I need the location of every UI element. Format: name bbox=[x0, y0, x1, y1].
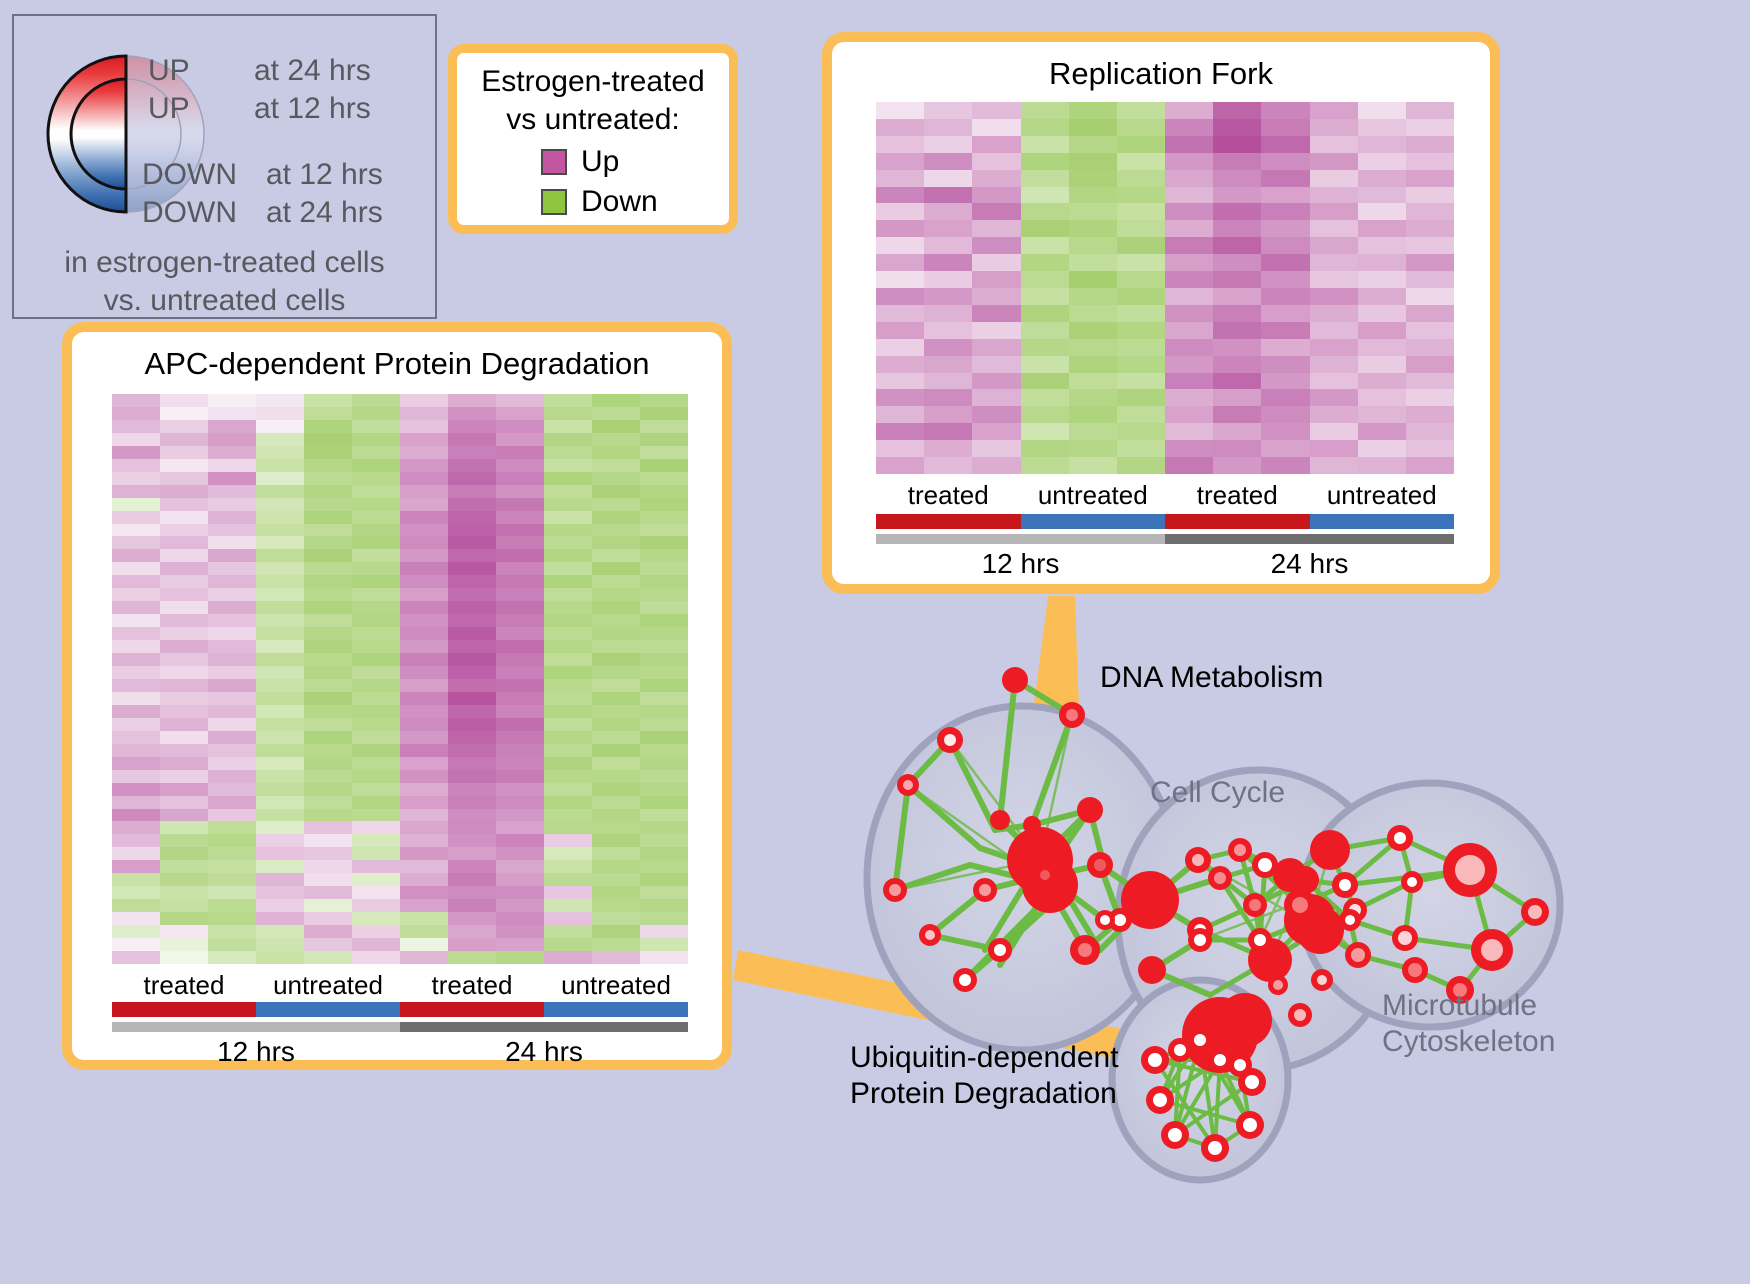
heatmap-cell bbox=[448, 536, 496, 549]
heatmap-cell bbox=[1165, 339, 1213, 356]
heatmap-cell bbox=[544, 549, 592, 562]
heatmap-cell bbox=[112, 601, 160, 614]
heatmap-cell bbox=[1213, 288, 1261, 305]
heatmap-cell bbox=[208, 938, 256, 951]
heatmap-cell bbox=[1406, 457, 1454, 474]
heatmap-cell bbox=[640, 899, 688, 912]
heatmap-cell bbox=[304, 536, 352, 549]
heatmap-cell bbox=[972, 440, 1020, 457]
heatmap-cell bbox=[640, 511, 688, 524]
heatmap-cell bbox=[1069, 305, 1117, 322]
heatmap-cell bbox=[1406, 440, 1454, 457]
sample-label: treated bbox=[112, 970, 256, 1001]
heatmap-cell bbox=[1021, 203, 1069, 220]
heatmap-cell bbox=[1069, 423, 1117, 440]
heatmap-cell bbox=[1261, 457, 1309, 474]
heatmap-cell bbox=[640, 498, 688, 511]
heatmap-cell bbox=[1406, 102, 1454, 119]
heatmap-cell bbox=[256, 692, 304, 705]
heatmap-cell bbox=[1358, 322, 1406, 339]
heatmap-cell bbox=[1165, 440, 1213, 457]
heatmap-cell bbox=[256, 446, 304, 459]
updown-legend-card: Estrogen-treated vs untreated: Up Down bbox=[448, 44, 738, 234]
heatmap-cell bbox=[256, 796, 304, 809]
heatmap-cell bbox=[496, 549, 544, 562]
heatmap-cell bbox=[256, 783, 304, 796]
heatmap-cell bbox=[400, 575, 448, 588]
heatmap-cell bbox=[592, 485, 640, 498]
heatmap-cell bbox=[112, 847, 160, 860]
heatmap-cell bbox=[592, 524, 640, 537]
heatmap-cell bbox=[1117, 322, 1165, 339]
sample-color-bar-replication bbox=[876, 514, 1454, 529]
heatmap-cell bbox=[400, 705, 448, 718]
heatmap-cell bbox=[1165, 170, 1213, 187]
heatmap-cell bbox=[304, 498, 352, 511]
heatmap-cell bbox=[1165, 220, 1213, 237]
heatmap-cell bbox=[1069, 373, 1117, 390]
heatmap-cell bbox=[496, 860, 544, 873]
heatmap-cell bbox=[160, 394, 208, 407]
heatmap-cell bbox=[352, 744, 400, 757]
heatmap-cell bbox=[1021, 457, 1069, 474]
heatmap-cell bbox=[1117, 119, 1165, 136]
heatmap-cell bbox=[1165, 288, 1213, 305]
legend-caption: in estrogen-treated cells vs. untreated … bbox=[14, 244, 435, 320]
heatmap-cell bbox=[304, 692, 352, 705]
heatmap-cell bbox=[544, 511, 592, 524]
heatmap-cell bbox=[400, 627, 448, 640]
heatmap-cell bbox=[640, 459, 688, 472]
heatmap-cell bbox=[640, 446, 688, 459]
heatmap-cell bbox=[544, 847, 592, 860]
legend-text-up-24: at 24 hrs bbox=[254, 54, 371, 88]
heatmap-cell bbox=[400, 757, 448, 770]
heatmap-cell bbox=[112, 549, 160, 562]
heatmap-cell bbox=[256, 601, 304, 614]
heatmap-cell bbox=[352, 524, 400, 537]
heatmap-cell bbox=[544, 485, 592, 498]
heatmap-cell bbox=[544, 588, 592, 601]
heatmap-cell bbox=[256, 420, 304, 433]
heatmap-cell bbox=[352, 821, 400, 834]
heatmap-cell bbox=[448, 796, 496, 809]
heatmap-cell bbox=[160, 536, 208, 549]
heatmap-cell bbox=[924, 406, 972, 423]
heatmap-cell bbox=[544, 446, 592, 459]
heatmap-cell bbox=[1213, 271, 1261, 288]
heatmap-cell bbox=[160, 821, 208, 834]
heatmap-cell bbox=[1358, 423, 1406, 440]
heatmap-cell bbox=[496, 899, 544, 912]
heatmap-cell bbox=[400, 925, 448, 938]
heatmap-cell bbox=[1261, 102, 1309, 119]
heatmap-cell bbox=[1310, 322, 1358, 339]
heatmap-cell bbox=[592, 640, 640, 653]
heatmap-cell bbox=[1069, 356, 1117, 373]
heatmap-cell bbox=[1021, 322, 1069, 339]
heatmap-cell bbox=[1358, 220, 1406, 237]
heatmap-cell bbox=[544, 899, 592, 912]
time-bar-segment bbox=[400, 1022, 688, 1032]
heatmap-cell bbox=[544, 796, 592, 809]
heatmap-cell bbox=[544, 472, 592, 485]
sample-labels-apc: treated untreated treated untreated bbox=[112, 970, 688, 1001]
heatmap-cell bbox=[1358, 389, 1406, 406]
heatmap-cell bbox=[1310, 389, 1358, 406]
heatmap-cell bbox=[1310, 187, 1358, 204]
heatmap-cell bbox=[352, 809, 400, 822]
heatmap-cell bbox=[160, 705, 208, 718]
pathway-network-diagram: DNA Metabolism Cell Cycle Microtubule Cy… bbox=[800, 620, 1750, 1279]
heatmap-cell bbox=[1213, 356, 1261, 373]
heatmap-cell bbox=[1213, 237, 1261, 254]
heatmap-cell bbox=[160, 588, 208, 601]
heatmap-cell bbox=[1310, 305, 1358, 322]
heatmap-cell bbox=[352, 925, 400, 938]
heatmap-cell bbox=[544, 718, 592, 731]
heatmap-cell bbox=[448, 873, 496, 886]
heatmap-cell bbox=[544, 783, 592, 796]
heatmap-cell bbox=[924, 153, 972, 170]
heatmap-cell bbox=[304, 433, 352, 446]
heatmap-cell bbox=[1261, 356, 1309, 373]
heatmap-cell bbox=[1358, 271, 1406, 288]
heatmap-cell bbox=[876, 102, 924, 119]
heatmap-cell bbox=[924, 102, 972, 119]
heatmap-cell bbox=[256, 886, 304, 899]
heatmap-cell bbox=[256, 873, 304, 886]
heatmap-cell bbox=[304, 731, 352, 744]
heatmap-cell bbox=[1069, 406, 1117, 423]
heatmap-cell bbox=[496, 912, 544, 925]
time-bar-segment bbox=[1165, 534, 1454, 544]
heatmap-cell bbox=[400, 951, 448, 964]
heatmap-cell bbox=[544, 938, 592, 951]
heatmap-cell bbox=[1213, 170, 1261, 187]
heatmap-cell bbox=[876, 237, 924, 254]
heatmap-cell bbox=[924, 440, 972, 457]
heatmap-cell bbox=[112, 938, 160, 951]
heatmap-cell bbox=[1406, 220, 1454, 237]
heatmap-cell bbox=[1358, 187, 1406, 204]
heatmap-cell bbox=[208, 886, 256, 899]
heatmap-cell bbox=[352, 834, 400, 847]
heatmap-cell bbox=[640, 653, 688, 666]
sample-label: untreated bbox=[1021, 480, 1166, 511]
heatmap-cell bbox=[1069, 153, 1117, 170]
heatmap-cell bbox=[1310, 288, 1358, 305]
heatmap-cell bbox=[400, 614, 448, 627]
heatmap-cell bbox=[640, 420, 688, 433]
heatmap-cell bbox=[1406, 423, 1454, 440]
heatmap-cell bbox=[1358, 237, 1406, 254]
heatmap-cell bbox=[876, 187, 924, 204]
heatmap-cell bbox=[1117, 254, 1165, 271]
heatmap-cell bbox=[400, 407, 448, 420]
heatmap-cell bbox=[924, 423, 972, 440]
heatmap-cell bbox=[592, 549, 640, 562]
heatmap-cell bbox=[640, 834, 688, 847]
heatmap-cell bbox=[640, 770, 688, 783]
heatmap-cell bbox=[544, 744, 592, 757]
heatmap-cell bbox=[304, 744, 352, 757]
heatmap-cell bbox=[256, 679, 304, 692]
heatmap-cell bbox=[1261, 153, 1309, 170]
heatmap-cell bbox=[876, 457, 924, 474]
sample-bar-segment bbox=[1310, 514, 1455, 529]
heatmap-cell bbox=[400, 783, 448, 796]
heatmap-cell bbox=[1117, 339, 1165, 356]
heatmap-cell bbox=[400, 834, 448, 847]
heatmap-cell bbox=[448, 511, 496, 524]
heatmap-cell bbox=[1021, 187, 1069, 204]
heatmap-cell bbox=[256, 653, 304, 666]
heatmap-cell bbox=[352, 420, 400, 433]
heatmap-cell bbox=[448, 951, 496, 964]
heatmap-cell bbox=[304, 679, 352, 692]
heatmap-cell bbox=[496, 627, 544, 640]
legend-key-down-24: DOWN bbox=[142, 196, 237, 230]
heatmap-cell bbox=[160, 575, 208, 588]
heatmap-cell bbox=[640, 575, 688, 588]
heatmap-cell bbox=[160, 770, 208, 783]
heatmap-cell bbox=[1021, 102, 1069, 119]
heatmap-cell bbox=[256, 524, 304, 537]
heatmap-cell bbox=[112, 485, 160, 498]
heatmap-cell bbox=[208, 899, 256, 912]
time-label: 24 hrs bbox=[400, 1036, 688, 1068]
heatmap-cell bbox=[352, 679, 400, 692]
heatmap-cell bbox=[208, 511, 256, 524]
heatmap-cell bbox=[400, 860, 448, 873]
heatmap-cell bbox=[1358, 102, 1406, 119]
heatmap-cell bbox=[1117, 187, 1165, 204]
heatmap-cell bbox=[496, 847, 544, 860]
heatmap-cell bbox=[448, 925, 496, 938]
heatmap-cell bbox=[400, 485, 448, 498]
heatmap-cell bbox=[208, 666, 256, 679]
heatmap-cell bbox=[160, 873, 208, 886]
heatmap-cell bbox=[544, 653, 592, 666]
heatmap-cell bbox=[972, 153, 1020, 170]
cluster-label-ubiquitin: Ubiquitin-dependent Protein Degradation bbox=[850, 1040, 1119, 1112]
heatmap-cell bbox=[208, 485, 256, 498]
heatmap-cell bbox=[496, 511, 544, 524]
heatmap-cell bbox=[304, 459, 352, 472]
heatmap-cell bbox=[544, 705, 592, 718]
heatmap-cell bbox=[304, 938, 352, 951]
heatmap-cell bbox=[208, 420, 256, 433]
heatmap-cell bbox=[640, 601, 688, 614]
heatmap-cell bbox=[304, 925, 352, 938]
heatmap-cell bbox=[496, 524, 544, 537]
heatmap-cell bbox=[1261, 423, 1309, 440]
heatmap-cell bbox=[544, 925, 592, 938]
heatmap-cell bbox=[256, 549, 304, 562]
heatmap-cell bbox=[1261, 187, 1309, 204]
heatmap-cell bbox=[876, 119, 924, 136]
sample-labels-replication: treated untreated treated untreated bbox=[876, 480, 1454, 511]
heatmap-cell bbox=[256, 511, 304, 524]
heatmap-cell bbox=[112, 627, 160, 640]
heatmap-cell bbox=[256, 562, 304, 575]
heatmap-cell bbox=[1069, 271, 1117, 288]
heatmap-cell bbox=[400, 446, 448, 459]
heatmap-cell bbox=[448, 549, 496, 562]
heatmap-cell bbox=[448, 886, 496, 899]
heatmap-cell bbox=[544, 627, 592, 640]
heatmap-cell bbox=[1021, 220, 1069, 237]
heatmap-cell bbox=[112, 731, 160, 744]
legend-key-up-24: UP bbox=[148, 54, 190, 88]
heatmap-cell bbox=[876, 339, 924, 356]
heatmap-cell bbox=[400, 912, 448, 925]
heatmap-cell bbox=[304, 770, 352, 783]
heatmap-cell bbox=[1021, 305, 1069, 322]
heatmap-apc-degradation bbox=[112, 394, 688, 964]
heatmap-cell bbox=[544, 951, 592, 964]
heatmap-cell bbox=[112, 536, 160, 549]
heatmap-cell bbox=[1213, 153, 1261, 170]
heatmap-cell bbox=[208, 575, 256, 588]
heatmap-cell bbox=[1358, 254, 1406, 271]
heatmap-cell bbox=[544, 821, 592, 834]
heatmap-cell bbox=[1069, 254, 1117, 271]
heatmap-cell bbox=[448, 860, 496, 873]
heatmap-cell bbox=[544, 912, 592, 925]
heatmap-cell bbox=[924, 220, 972, 237]
heatmap-cell bbox=[924, 170, 972, 187]
heatmap-cell bbox=[112, 809, 160, 822]
heatmap-cell bbox=[496, 731, 544, 744]
heatmap-cell bbox=[1406, 254, 1454, 271]
heatmap-cell bbox=[1213, 254, 1261, 271]
heatmap-cell bbox=[1117, 170, 1165, 187]
legend-text-down-12: at 12 hrs bbox=[266, 158, 383, 192]
heatmap-cell bbox=[1165, 237, 1213, 254]
down-color-swatch bbox=[541, 189, 567, 215]
heatmap-cell bbox=[352, 614, 400, 627]
heatmap-cell bbox=[448, 770, 496, 783]
heatmap-cell bbox=[352, 718, 400, 731]
heatmap-cell bbox=[1069, 136, 1117, 153]
heatmap-cell bbox=[1213, 136, 1261, 153]
heatmap-cell bbox=[352, 549, 400, 562]
heatmap-cell bbox=[208, 433, 256, 446]
heatmap-cell bbox=[208, 640, 256, 653]
heatmap-cell bbox=[160, 718, 208, 731]
heatmap-cell bbox=[400, 640, 448, 653]
heatmap-cell bbox=[160, 446, 208, 459]
heatmap-cell bbox=[972, 170, 1020, 187]
heatmap-cell bbox=[160, 951, 208, 964]
heatmap-cell bbox=[448, 847, 496, 860]
heatmap-cell bbox=[1213, 339, 1261, 356]
heatmap-cell bbox=[1310, 373, 1358, 390]
heatmap-cell bbox=[112, 770, 160, 783]
heatmap-cell bbox=[1117, 389, 1165, 406]
heatmap-cell bbox=[1117, 237, 1165, 254]
heatmap-cell bbox=[208, 821, 256, 834]
heatmap-cell bbox=[592, 718, 640, 731]
heatmap-cell bbox=[1213, 322, 1261, 339]
heatmap-cell bbox=[112, 524, 160, 537]
heatmap-cell bbox=[400, 588, 448, 601]
panel-title-replication-fork: Replication Fork bbox=[832, 56, 1490, 92]
heatmap-cell bbox=[496, 472, 544, 485]
heatmap-cell bbox=[592, 757, 640, 770]
heatmap-cell bbox=[592, 627, 640, 640]
heatmap-cell bbox=[496, 394, 544, 407]
time-bar-segment bbox=[112, 1022, 400, 1032]
heatmap-cell bbox=[496, 757, 544, 770]
heatmap-cell bbox=[972, 305, 1020, 322]
heatmap-cell bbox=[544, 498, 592, 511]
heatmap-cell bbox=[400, 420, 448, 433]
sample-label: untreated bbox=[1310, 480, 1455, 511]
heatmap-cell bbox=[592, 394, 640, 407]
heatmap-cell bbox=[160, 796, 208, 809]
heatmap-cell bbox=[112, 860, 160, 873]
heatmap-cell bbox=[592, 459, 640, 472]
heatmap-cell bbox=[1261, 339, 1309, 356]
heatmap-cell bbox=[256, 899, 304, 912]
heatmap-cell bbox=[592, 925, 640, 938]
heatmap-cell bbox=[1165, 254, 1213, 271]
heatmap-cell bbox=[1406, 288, 1454, 305]
heatmap-cell bbox=[352, 433, 400, 446]
sample-label: untreated bbox=[256, 970, 400, 1001]
cluster-label-cell-cycle: Cell Cycle bbox=[1150, 775, 1285, 811]
heatmap-cell bbox=[972, 322, 1020, 339]
heatmap-cell bbox=[640, 705, 688, 718]
heatmap-cell bbox=[972, 102, 1020, 119]
heatmap-cell bbox=[256, 627, 304, 640]
heatmap-cell bbox=[1069, 237, 1117, 254]
heatmap-cell bbox=[876, 406, 924, 423]
heatmap-cell bbox=[352, 562, 400, 575]
heatmap-cell bbox=[352, 692, 400, 705]
heatmap-cell bbox=[256, 575, 304, 588]
heatmap-cell bbox=[304, 562, 352, 575]
heatmap-cell bbox=[592, 770, 640, 783]
legend-key-up-12: UP bbox=[148, 92, 190, 126]
heatmap-cell bbox=[592, 614, 640, 627]
heatmap-cell bbox=[924, 237, 972, 254]
heatmap-cell bbox=[592, 938, 640, 951]
heatmap-cell bbox=[972, 406, 1020, 423]
heatmap-cell bbox=[208, 783, 256, 796]
heatmap-cell bbox=[972, 356, 1020, 373]
heatmap-cell bbox=[1069, 220, 1117, 237]
sample-color-bar-apc bbox=[112, 1002, 688, 1017]
legend-item-down-label: Down bbox=[581, 185, 658, 219]
heatmap-cell bbox=[544, 640, 592, 653]
heatmap-cell bbox=[352, 705, 400, 718]
heatmap-cell bbox=[496, 420, 544, 433]
heatmap-cell bbox=[112, 925, 160, 938]
heatmap-cell bbox=[1165, 153, 1213, 170]
heatmap-cell bbox=[592, 511, 640, 524]
heatmap-cell bbox=[1117, 203, 1165, 220]
heatmap-cell bbox=[592, 951, 640, 964]
time-label: 12 hrs bbox=[112, 1036, 400, 1068]
heatmap-cell bbox=[208, 549, 256, 562]
heatmap-cell bbox=[160, 459, 208, 472]
heatmap-cell bbox=[544, 394, 592, 407]
time-label: 24 hrs bbox=[1165, 548, 1454, 580]
